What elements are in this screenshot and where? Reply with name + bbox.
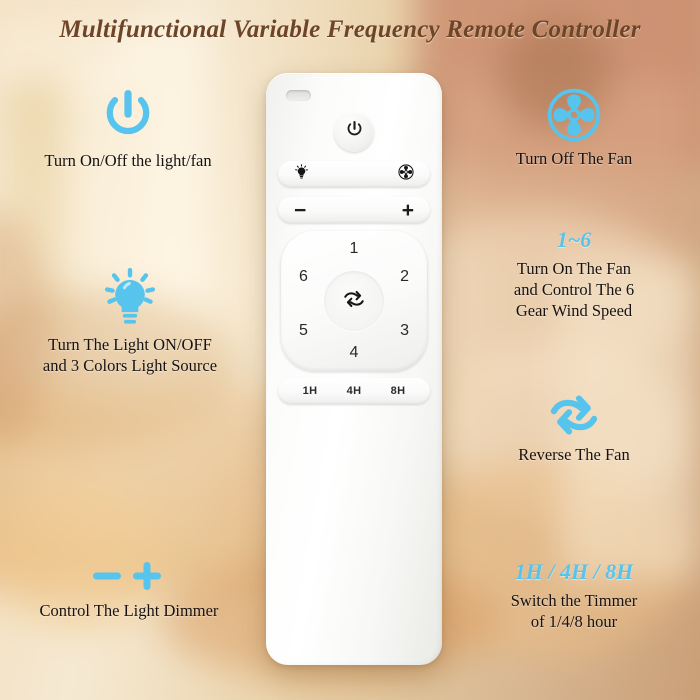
annotation-light-caption-line2: and 3 Colors Light Source (2, 355, 258, 376)
annotation-reverse: Reverse The Fan (452, 392, 696, 465)
annotation-fan-off-caption: Turn Off The Fan (452, 148, 696, 169)
remote-reverse-button[interactable] (324, 271, 384, 331)
speed-button-2[interactable]: 2 (400, 269, 409, 285)
infographic-canvas: Multifunctional Variable Frequency Remot… (0, 0, 700, 700)
speed-button-4[interactable]: 4 (350, 345, 359, 361)
annotation-dimmer-caption: Control The Light Dimmer (6, 600, 252, 621)
annotation-dimmer: Control The Light Dimmer (6, 558, 252, 621)
annotation-speed-highlight: 1~6 (452, 228, 696, 252)
power-icon (345, 120, 364, 144)
reverse-arrows-icon (452, 392, 696, 438)
annotation-timer: 1H / 4H / 8H Switch the Timmer of 1/4/8 … (452, 560, 696, 632)
annotation-power-caption: Turn On/Off the light/fan (8, 150, 248, 171)
minus-plus-icon (6, 558, 252, 594)
page-title: Multifunctional Variable Frequency Remot… (0, 16, 700, 44)
ir-emitter-window (286, 90, 311, 101)
plus-button[interactable]: + (402, 200, 414, 221)
fan-icon[interactable] (398, 164, 414, 185)
speed-button-5[interactable]: 5 (299, 323, 308, 339)
speed-button-3[interactable]: 3 (400, 323, 409, 339)
annotation-speed-caption-line2: and Control The 6 (452, 279, 696, 300)
remote-dimmer-row[interactable]: − + (278, 197, 430, 223)
annotation-timer-highlight: 1H / 4H / 8H (452, 560, 696, 584)
power-icon (8, 88, 248, 144)
fan-icon (452, 88, 696, 142)
annotation-speed-caption-line3: Gear Wind Speed (452, 300, 696, 321)
remote-control-body: − + 1 2 3 4 5 6 1H 4H 8H (266, 73, 442, 665)
remote-power-button[interactable] (334, 112, 374, 152)
timer-button-4h[interactable]: 4H (347, 385, 362, 397)
speed-button-1[interactable]: 1 (350, 241, 359, 257)
speed-button-6[interactable]: 6 (299, 269, 308, 285)
reverse-arrows-icon (340, 288, 368, 315)
annotation-timer-caption-line2: of 1/4/8 hour (452, 611, 696, 632)
light-bulb-icon[interactable] (294, 164, 309, 185)
annotation-light: Turn The Light ON/OFF and 3 Colors Light… (2, 268, 258, 376)
annotation-speed-caption-line1: Turn On The Fan (452, 258, 696, 279)
timer-button-1h[interactable]: 1H (303, 385, 318, 397)
remote-speed-dial[interactable]: 1 2 3 4 5 6 (281, 231, 427, 371)
annotation-speed: 1~6 Turn On The Fan and Control The 6 Ge… (452, 228, 696, 322)
minus-button[interactable]: − (294, 200, 306, 221)
remote-light-fan-row[interactable] (278, 161, 430, 187)
annotation-light-caption-line1: Turn The Light ON/OFF (2, 334, 258, 355)
annotation-reverse-caption: Reverse The Fan (452, 444, 696, 465)
annotation-fan-off: Turn Off The Fan (452, 88, 696, 169)
remote-timer-row[interactable]: 1H 4H 8H (278, 378, 430, 404)
light-bulb-icon (2, 268, 258, 328)
timer-button-8h[interactable]: 8H (391, 385, 406, 397)
annotation-power: Turn On/Off the light/fan (8, 88, 248, 171)
annotation-timer-caption-line1: Switch the Timmer (452, 590, 696, 611)
